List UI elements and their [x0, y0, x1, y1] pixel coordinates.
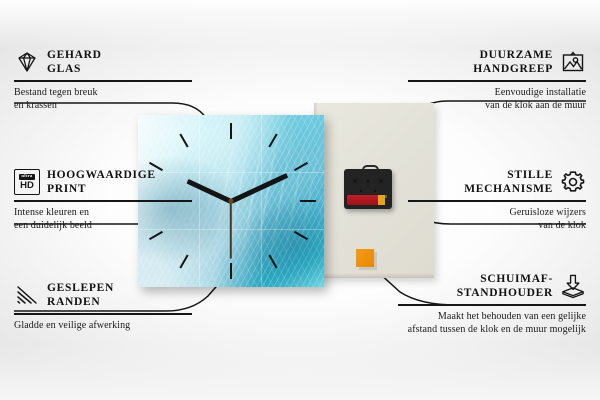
hd-badge: ultra HD [14, 169, 40, 195]
gear-icon [560, 169, 586, 195]
feature-title: STILLEMECHANISME [464, 168, 553, 196]
feature-description: Eenvoudige installatievan de klok aan de… [408, 86, 586, 112]
feature-gehard-glas: GEHARDGLAS Bestand tegen breuken krassen [14, 48, 192, 112]
feature-divider [408, 200, 586, 202]
second-hand [230, 201, 232, 259]
tick-6 [230, 263, 232, 279]
feature-header: SCHUIMAF-STANDHOUDER [398, 272, 586, 300]
feature-header: GEHARDGLAS [14, 48, 192, 76]
beveled-edges-icon [14, 282, 40, 308]
feature-description: Intense kleuren eneen duidelijk beeld [14, 206, 192, 232]
tick-12 [230, 123, 232, 139]
feature-divider [408, 80, 586, 82]
ultra-hd-icon: ultra HD [14, 169, 40, 195]
feature-header: DUURZAMEHANDGREEP [408, 48, 586, 76]
infographic-canvas: GEHARDGLAS Bestand tegen breuken krassen… [0, 0, 600, 400]
feature-schuimaf-standhouder: SCHUIMAF-STANDHOUDER Maakt het behouden … [398, 272, 586, 336]
feature-divider [14, 313, 192, 315]
feature-title: GESLEPENRANDEN [47, 281, 114, 309]
feature-title: HOOGWAARDIGEPRINT [47, 168, 156, 196]
feature-duurzame-handgreep: DUURZAMEHANDGREEP Eenvoudige installatie… [408, 48, 586, 112]
mechanism-housing [344, 169, 392, 209]
feature-geslepen-randen: GESLEPENRANDEN Gladde en veilige afwerki… [14, 281, 192, 332]
battery [347, 195, 385, 205]
feature-divider [14, 200, 192, 202]
spacer-stamp-icon [560, 273, 586, 299]
picture-frame-icon [560, 49, 586, 75]
feature-divider [398, 304, 586, 306]
feature-title: SCHUIMAF-STANDHOUDER [457, 272, 553, 300]
feature-description: Gladde en veilige afwerking [14, 319, 192, 332]
feature-stille-mechanisme: STILLEMECHANISME Geruisloze wijzersvan d… [408, 168, 586, 232]
feature-description: Geruisloze wijzersvan de klok [408, 206, 586, 232]
tick-3 [300, 200, 316, 202]
foam-spacer-pad [356, 249, 374, 267]
feature-hoogwaardige-print: ultra HD HOOGWAARDIGEPRINT Intense kleur… [14, 168, 192, 232]
mechanism-detail [349, 177, 387, 195]
feature-divider [14, 80, 192, 82]
clock-hub [229, 199, 234, 204]
diamond-icon [14, 49, 40, 75]
feature-header: GESLEPENRANDEN [14, 281, 192, 309]
battery-terminal [378, 195, 385, 205]
feature-header: ultra HD HOOGWAARDIGEPRINT [14, 168, 192, 196]
feature-description: Maakt het behouden van een gelijkeafstan… [398, 310, 586, 336]
feature-title: GEHARDGLAS [47, 48, 102, 76]
clock-mechanism [344, 165, 392, 209]
feature-title: DUURZAMEHANDGREEP [473, 48, 553, 76]
feature-description: Bestand tegen breuken krassen [14, 86, 192, 112]
feature-header: STILLEMECHANISME [408, 168, 586, 196]
